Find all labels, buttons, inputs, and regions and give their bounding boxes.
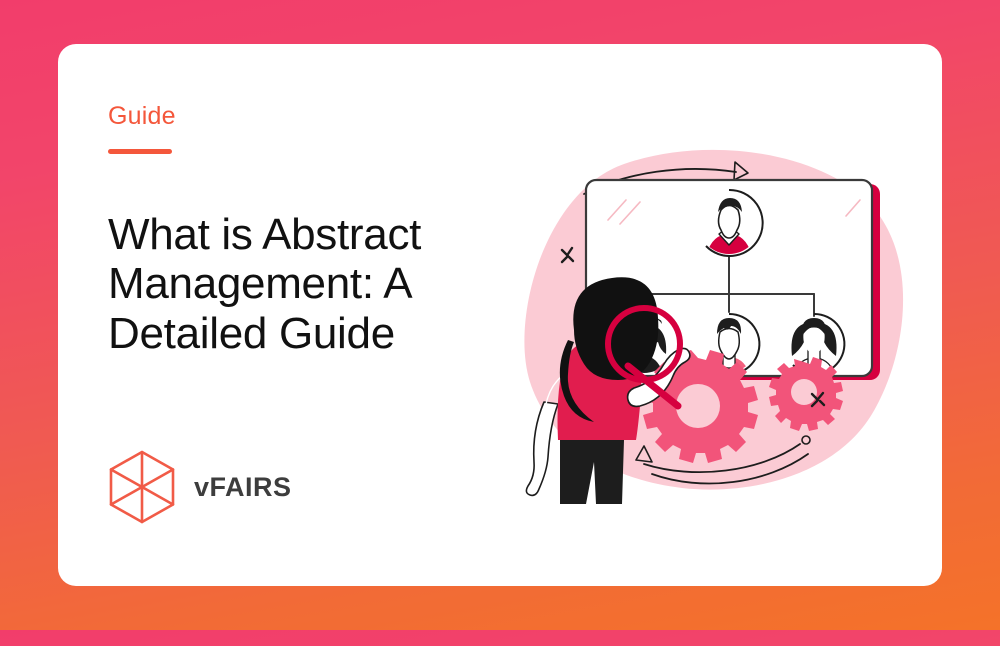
gear-small bbox=[769, 357, 843, 431]
hexagon-spokes-icon bbox=[108, 450, 176, 524]
brand-logo-text: vFAIRS bbox=[194, 472, 292, 503]
eyebrow-underline bbox=[108, 149, 172, 154]
content-card: Guide What is Abstract Management: A Det… bbox=[58, 44, 942, 586]
text-column: Guide What is Abstract Management: A Det… bbox=[108, 104, 508, 646]
woman-inspecting-org-chart-illustration bbox=[516, 144, 916, 504]
gear-large bbox=[643, 350, 758, 463]
brand-logo[interactable]: vFAIRS bbox=[108, 450, 292, 524]
eyebrow-label: Guide bbox=[108, 104, 508, 129]
page-title: What is Abstract Management: A Detailed … bbox=[108, 210, 468, 358]
